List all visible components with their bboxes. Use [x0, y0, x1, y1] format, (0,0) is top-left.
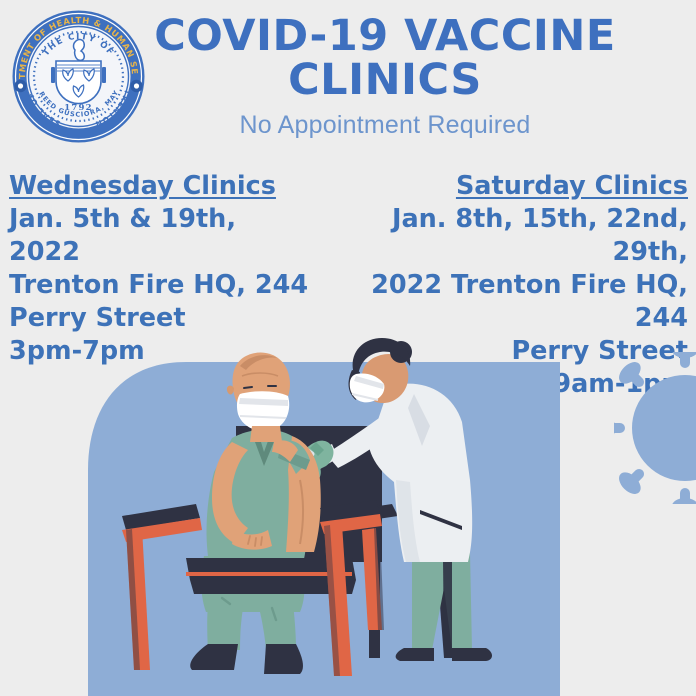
saturday-clinic-line-1: Jan. 8th, 15th, 22nd, 29th, [368, 203, 688, 269]
saturday-clinic-heading: Saturday Clinics [368, 170, 688, 203]
page-title: COVID-19 VACCINE CLINICS [150, 14, 620, 102]
covid-vaccine-clinic-poster: DEPARTMENT OF HEALTH & HUMAN SERVICES TH… [0, 0, 696, 696]
wednesday-clinic-line-1: Jan. 5th & 19th, 2022 [9, 203, 309, 269]
header: COVID-19 VACCINE CLINICS No Appointment … [150, 14, 620, 139]
page-subtitle: No Appointment Required [150, 111, 620, 139]
wednesday-clinic-heading: Wednesday Clinics [9, 170, 309, 203]
city-seal: DEPARTMENT OF HEALTH & HUMAN SERVICES TH… [11, 9, 146, 144]
vaccination-illustration [0, 330, 696, 696]
coronavirus-icon [614, 352, 696, 504]
saturday-clinic-line-2: 2022 Trenton Fire HQ, 244 [368, 269, 688, 335]
wednesday-clinic-line-2: Trenton Fire HQ, 244 [9, 269, 309, 302]
